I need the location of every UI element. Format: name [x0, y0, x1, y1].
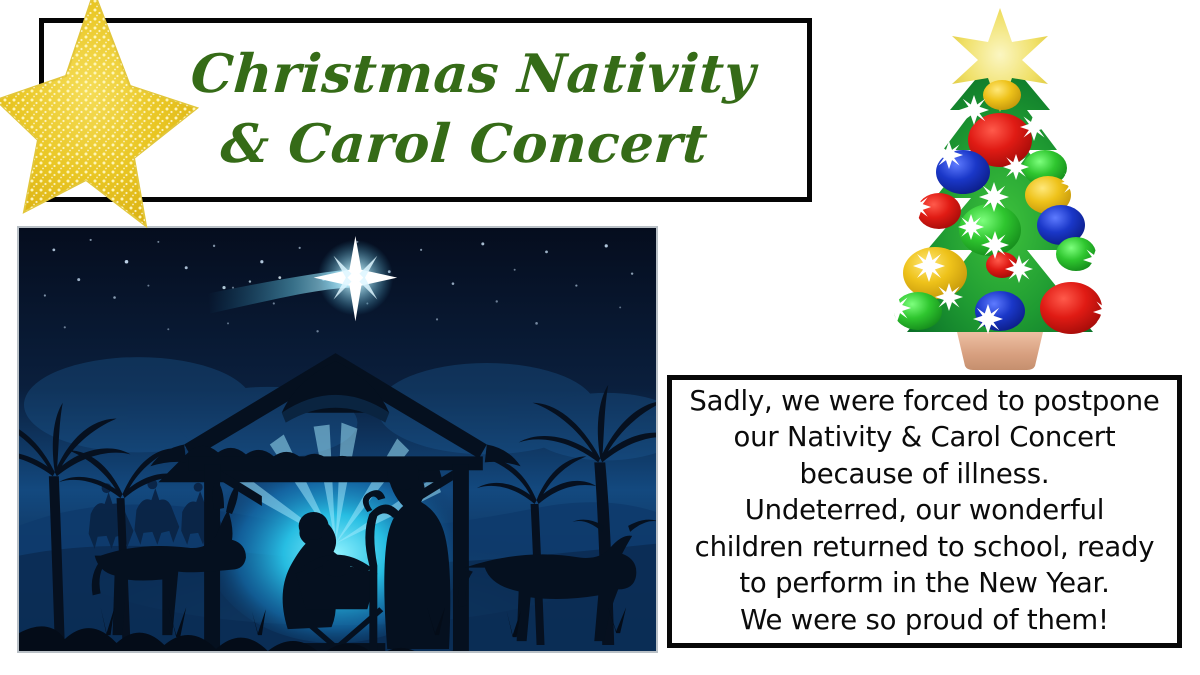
- message-line: Sadly, we were forced to postpone: [689, 383, 1159, 420]
- christmas-tree-icon: [845, 2, 1155, 370]
- message-line: our Nativity & Carol Concert: [734, 419, 1116, 456]
- message-line: Undeterred, our wonderful: [745, 492, 1105, 529]
- nativity-scene-image: [17, 226, 658, 653]
- title-text-wrap: Christmas Nativity & Carol Concert: [44, 23, 807, 197]
- title-line-2: & Carol Concert: [218, 110, 710, 180]
- title-banner: Christmas Nativity & Carol Concert: [39, 18, 812, 202]
- message-line: because of illness.: [800, 456, 1050, 493]
- message-line: children returned to school, ready: [695, 529, 1155, 566]
- message-line: to perform in the New Year.: [739, 565, 1109, 602]
- title-line-1: Christmas Nativity: [188, 40, 757, 110]
- message-line: We were so proud of them!: [740, 602, 1109, 639]
- tree-pot: [957, 332, 1043, 370]
- message-box: Sadly, we were forced to postpone our Na…: [667, 375, 1182, 648]
